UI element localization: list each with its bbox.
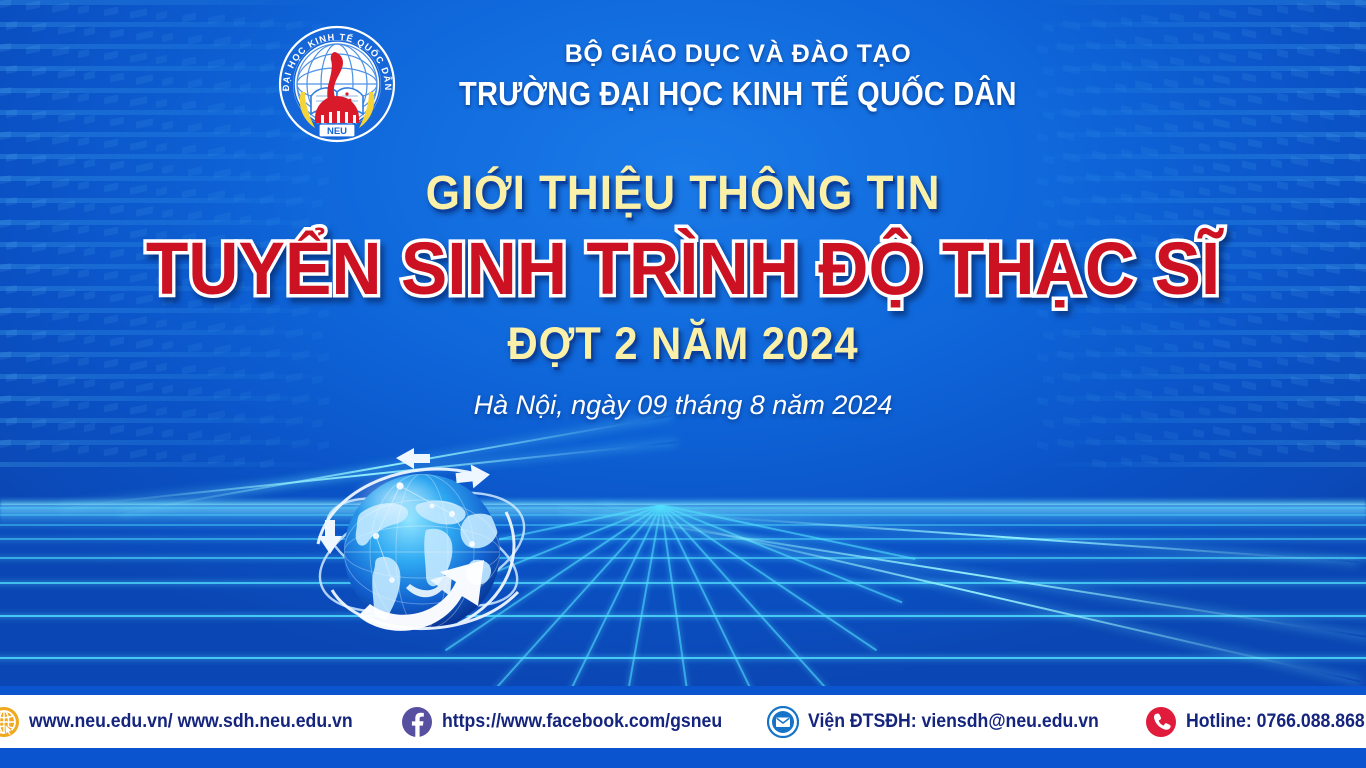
title-main: TUYỂN SINH TRÌNH ĐỘ THẠC SĨ	[41, 226, 1325, 311]
footer-bottom-band	[0, 748, 1366, 768]
footer-email-text: Viện ĐTSĐH: viensdh@neu.edu.vn	[808, 711, 1099, 733]
email-icon	[767, 706, 799, 738]
title-date: Hà Nội, ngày 09 tháng 8 năm 2024	[0, 390, 1366, 421]
footer-item-hotline[interactable]: Hotline: 0766.088.868	[1145, 706, 1366, 738]
footer-item-website[interactable]: www.neu.edu.vn/ www.sdh.neu.edu.vn	[0, 706, 377, 738]
grid-horizontal-line	[0, 538, 1366, 540]
footer-facebook-text: https://www.facebook.com/gsneu	[442, 711, 722, 733]
header: NEU ĐẠI HỌC KINH TẾ QUỐC DÂN BỘ GIÁO DỤC…	[0, 18, 1366, 150]
header-text: BỘ GIÁO DỤC VÀ ĐÀO TẠO TRƯỜNG ĐẠI HỌC KI…	[421, 18, 1055, 113]
grid-horizontal-line	[0, 582, 1366, 584]
footer-website-text: www.neu.edu.vn/ www.sdh.neu.edu.vn	[29, 711, 353, 733]
globe-illustration	[300, 440, 550, 670]
logo-banner-text: NEU	[327, 126, 347, 137]
facebook-icon	[401, 706, 433, 738]
footer-item-facebook[interactable]: https://www.facebook.com/gsneu	[401, 706, 743, 738]
poster-canvas: NEU ĐẠI HỌC KINH TẾ QUỐC DÂN BỘ GIÁO DỤC…	[0, 0, 1366, 768]
ministry-name: BỘ GIÁO DỤC VÀ ĐÀO TẠO	[421, 40, 1055, 69]
footer-top-band	[0, 686, 1366, 695]
neu-logo: NEU ĐẠI HỌC KINH TẾ QUỐC DÂN	[271, 18, 403, 150]
phone-icon	[1145, 706, 1177, 738]
globe-icon	[0, 706, 20, 738]
grid-horizontal-line	[0, 615, 1366, 617]
title-subtitle: ĐỢT 2 NĂM 2024	[48, 318, 1318, 370]
title-intro: GIỚI THIỆU THÔNG TIN	[55, 166, 1312, 221]
footer-hotline-text: Hotline: 0766.088.868	[1186, 711, 1365, 733]
grid-horizontal-line	[0, 557, 1366, 559]
university-name: TRƯỜNG ĐẠI HỌC KINH TẾ QUỐC DÂN	[459, 75, 1017, 113]
footer-bar: www.neu.edu.vn/ www.sdh.neu.edu.vn https…	[0, 695, 1366, 748]
footer-item-email[interactable]: Viện ĐTSĐH: viensdh@neu.edu.vn	[767, 706, 1121, 738]
